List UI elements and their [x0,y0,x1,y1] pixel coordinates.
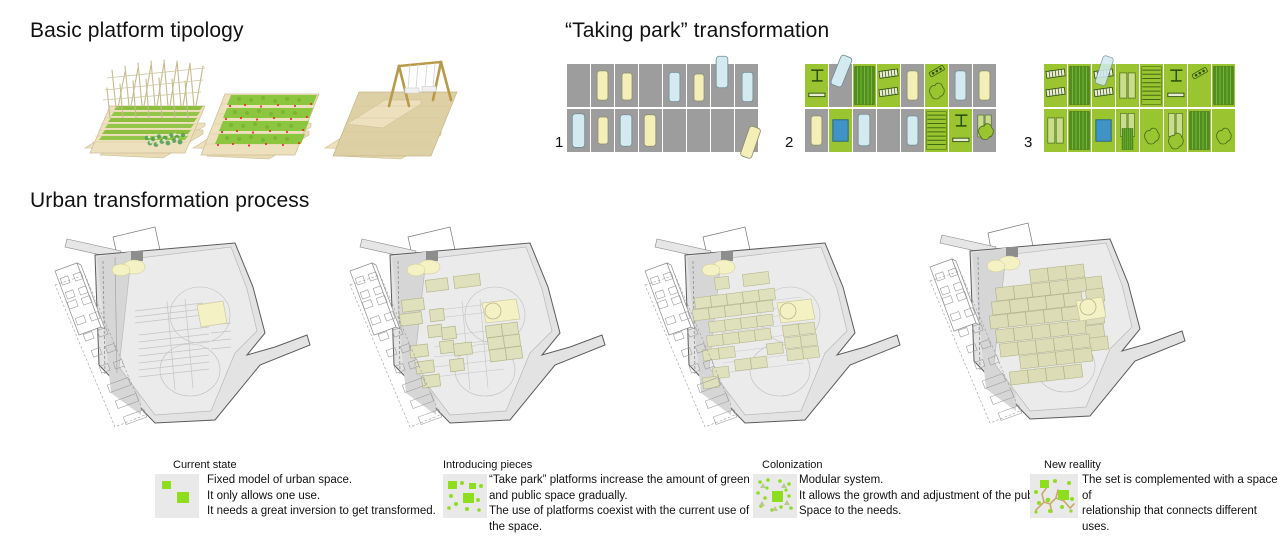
urban-plan-new-reality [900,215,1220,445]
urban-plan-colonization [625,215,925,445]
typology-item-planting-beds [193,94,319,159]
caption-line: The use of platforms coexist with the cu… [489,504,750,520]
urban-plan-current-state [35,215,335,445]
caption-block-colonization: Colonization Modular system. It [753,459,1053,524]
typology-item-trellis [85,60,205,158]
caption-line: Modular system. [799,473,1048,489]
typology-illustrations [55,48,475,173]
caption-title-colonization: Colonization [762,459,1053,471]
caption-title-new-reality: New reallity [1044,459,1280,471]
caption-line: the space. [489,520,750,536]
caption-line: It needs a great inversion to get transf… [207,504,436,520]
caption-block-current-state: Current state Fixed model of urban space… [155,459,455,520]
caption-thumbnail-colonization [753,474,797,518]
caption-line: and public space gradually. [489,489,750,505]
urban-plan-introducing-pieces [330,215,630,445]
stage-3-row-bottom [1044,109,1235,152]
stage-2-row-top [805,54,996,107]
caption-line: Fixed model of urban space. [207,473,436,489]
plan-platform-existing [197,301,227,327]
stage-1-number: 1 [555,134,563,151]
plan-svg-1 [35,215,335,445]
caption-line: relationship that connects different use… [1082,504,1280,535]
taking-park-stage-1: 1 [555,56,761,159]
caption-line: “Take park” platforms increase the amoun… [489,473,750,489]
caption-line: It only allows one use. [207,489,436,505]
caption-block-new-reality: New reallity The set is com [1030,459,1280,524]
typology-section-title: Basic platform tipology [30,19,244,43]
caption-line: The set is complemented with a space of [1082,473,1280,504]
stage-2-number: 2 [785,134,793,151]
stage-1-row-bottom [567,109,761,159]
urban-section-title: Urban transformation process [30,189,309,213]
stage-2-row-bottom [805,109,996,152]
caption-line: It allows the growth and adjustment of t… [799,489,1048,505]
plan-svg-2 [330,215,630,445]
taking-park-stage-2: 2 [785,54,996,152]
stage-1-row-top [567,56,758,107]
stage-3-number: 3 [1024,134,1032,151]
typology-svg [55,48,475,173]
caption-title-current-state: Current state [173,459,455,471]
caption-thumbnail-new-reality [1030,474,1078,518]
taking-park-stage-3: 3 [1024,55,1235,152]
caption-line: Space to the needs. [799,504,1048,520]
taking-park-section-title: “Taking park” transformation [565,19,829,43]
plan-svg-3 [625,215,925,445]
taking-park-diagram: 1 [555,52,1270,162]
caption-thumbnail-introducing-pieces [443,474,487,518]
typology-item-swing [325,62,457,159]
caption-thumbnail-current-state [155,474,199,518]
taking-park-svg: 1 [555,52,1270,162]
plan-svg-4 [900,215,1220,445]
caption-block-introducing-pieces: Introducing pieces “Take park” platforms… [443,459,763,536]
stage-3-row-top [1044,55,1235,107]
caption-title-introducing-pieces: Introducing pieces [443,459,763,471]
